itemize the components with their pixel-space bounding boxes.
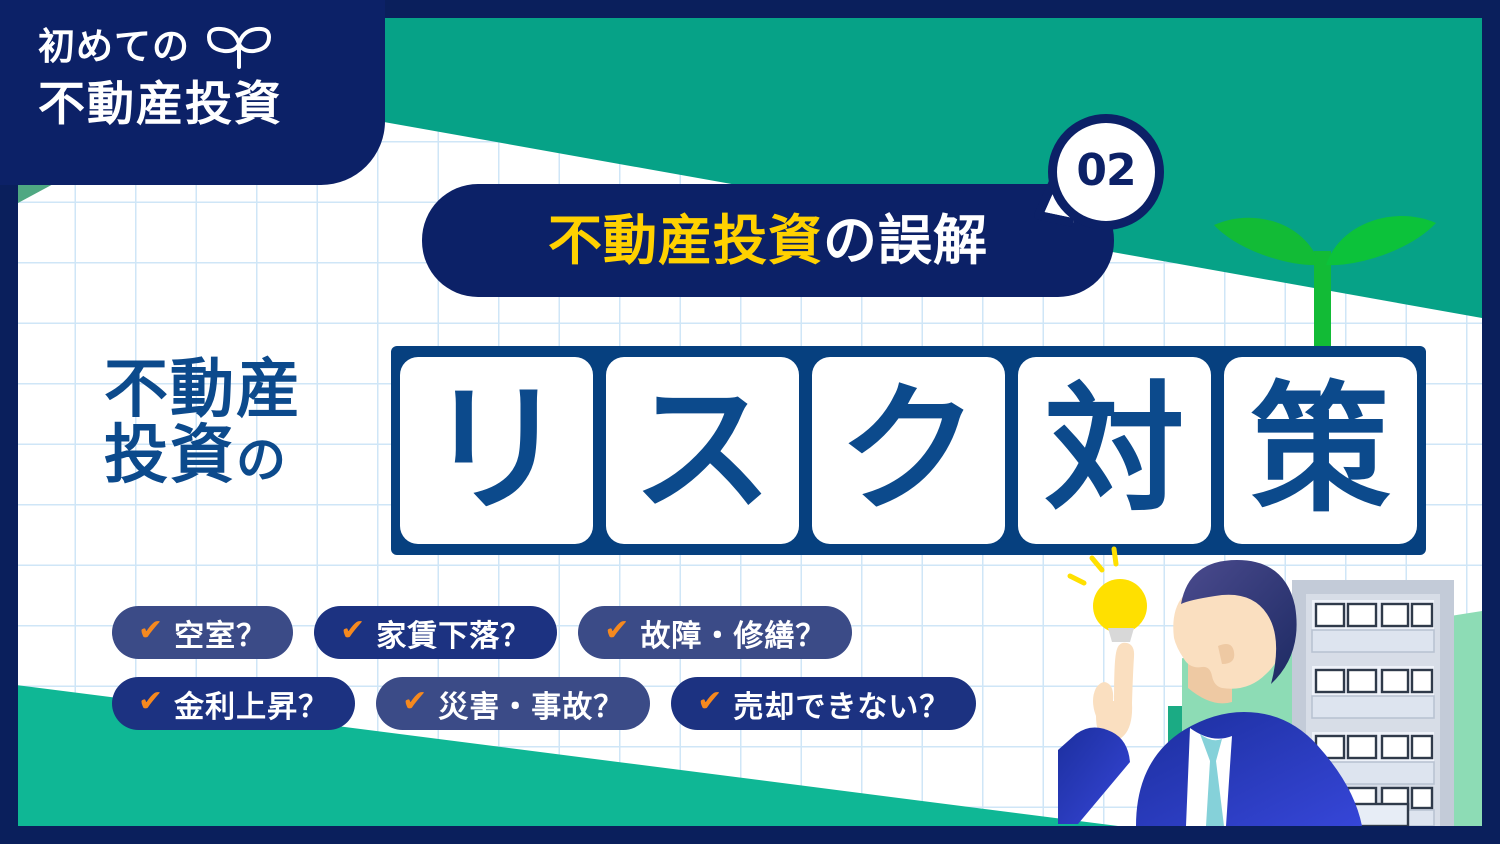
risk-tag-label: 売却できない？ <box>733 682 950 726</box>
bubble-circle: 02 <box>1048 114 1164 230</box>
check-icon: ✔ <box>697 687 722 717</box>
sprout-graphic <box>1198 203 1448 353</box>
tile-char: 策 <box>1224 357 1417 544</box>
check-icon: ✔ <box>138 616 163 646</box>
risk-tag[interactable]: ✔ 売却できない？ <box>671 677 976 730</box>
brand-panel: 初めての 不動産投資 <box>0 0 385 185</box>
headline-left: 不動産 投資の <box>104 358 302 490</box>
lightbulb-icon <box>1070 549 1147 642</box>
tag-row-1: ✔ 空室？ ✔ 家賃下落？ ✔ 故障・修繕？ <box>112 606 976 659</box>
check-icon: ✔ <box>402 687 427 717</box>
check-icon: ✔ <box>604 616 629 646</box>
risk-tag[interactable]: ✔ 家賃下落？ <box>314 606 557 659</box>
title-highlight: 不動産投資 <box>548 214 823 268</box>
check-icon: ✔ <box>340 616 365 646</box>
headline-line2: 投資 <box>104 419 236 493</box>
brand-line-1: 初めての <box>38 22 385 70</box>
risk-measures-tiles: リ ス ク 対 策 <box>391 346 1426 555</box>
step-number: 02 <box>1076 149 1135 196</box>
risk-tag-list: ✔ 空室？ ✔ 家賃下落？ ✔ 故障・修繕？ ✔ 金利上昇？ ✔ <box>112 606 976 748</box>
section-title-badge: 不動産投資の誤解 <box>422 184 1114 297</box>
risk-tag[interactable]: ✔ 金利上昇？ <box>112 677 355 730</box>
tile-char: ス <box>606 357 799 544</box>
illustration-businessman-building <box>1048 538 1482 826</box>
title-particle: の <box>823 214 878 268</box>
infographic-canvas: リ ス ク 対 策 不動産 投資の 不動産投資の誤解 02 ✔ <box>0 0 1500 844</box>
risk-tag-label: 家賃下落？ <box>376 611 531 655</box>
risk-tag-label: 金利上昇？ <box>174 682 329 726</box>
headline-particle: の <box>236 431 288 489</box>
tile-char: リ <box>400 357 593 544</box>
headline-line1: 不動産 <box>104 358 302 424</box>
risk-tag-label: 災害・事故？ <box>438 682 624 726</box>
risk-tag[interactable]: ✔ 空室？ <box>112 606 293 659</box>
brand-line1-text: 初めての <box>38 28 190 65</box>
step-number-bubble: 02 <box>1048 114 1164 230</box>
risk-tag-label: 空室？ <box>174 611 267 655</box>
tile-char: 対 <box>1018 357 1211 544</box>
brand-line-2: 不動産投資 <box>38 81 385 128</box>
risk-tag[interactable]: ✔ 災害・事故？ <box>376 677 650 730</box>
tile-char: ク <box>812 357 1005 544</box>
sprout-icon <box>204 22 274 70</box>
risk-tag-label: 故障・修繕？ <box>640 611 826 655</box>
check-icon: ✔ <box>138 687 163 717</box>
title-rest: 誤解 <box>878 214 988 268</box>
tag-row-2: ✔ 金利上昇？ ✔ 災害・事故？ ✔ 売却できない？ <box>112 677 976 730</box>
risk-tag[interactable]: ✔ 故障・修繕？ <box>578 606 852 659</box>
